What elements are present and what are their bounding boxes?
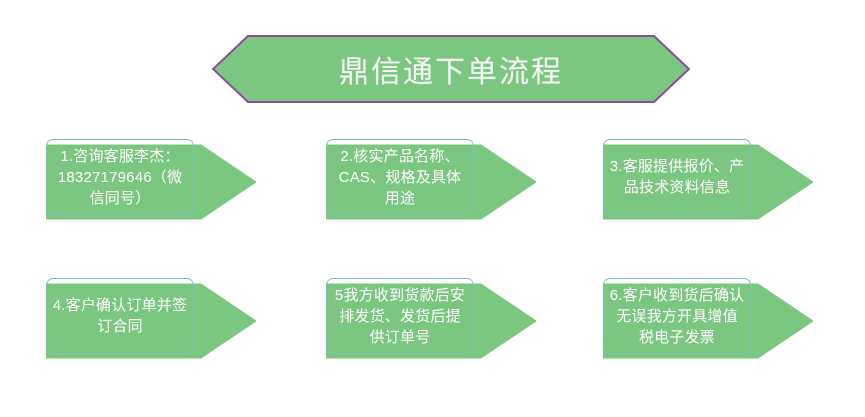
step-3-box: 3.客服提供报价、产品技术资料信息: [603, 139, 751, 215]
flow-step-4[interactable]: 4.客户确认订单并签订合同: [46, 278, 256, 364]
step-5-box: 5我方收到货款后安排发货、发货后提供订单号: [326, 278, 474, 354]
step-4-box: 4.客户确认订单并签订合同: [46, 278, 194, 354]
flow-step-3[interactable]: 3.客服提供报价、产品技术资料信息: [603, 139, 813, 225]
flow-step-1[interactable]: 1.咨询客服李杰：18327179646（微信同号）: [46, 139, 256, 225]
page-title: 鼎信通下单流程: [212, 35, 690, 103]
step-6-box: 6.客户收到货后确认无误我方开具增值税电子发票: [603, 278, 751, 354]
step-1-box: 1.咨询客服李杰：18327179646（微信同号）: [46, 139, 194, 215]
step-2-box: 2.核实产品名称、CAS、规格及具体用途: [326, 139, 474, 215]
step-6-label: 6.客户收到货后确认无误我方开具增值税电子发票: [609, 285, 745, 348]
step-1-label: 1.咨询客服李杰：18327179646（微信同号）: [52, 146, 188, 209]
flow-step-6[interactable]: 6.客户收到货后确认无误我方开具增值税电子发票: [603, 278, 813, 364]
flowchart-canvas: 鼎信通下单流程 1.咨询客服李杰：18327179646（微信同号） 2.核实产…: [0, 0, 865, 417]
step-3-label: 3.客服提供报价、产品技术资料信息: [609, 156, 745, 198]
step-5-label: 5我方收到货款后安排发货、发货后提供订单号: [332, 285, 468, 348]
title-banner: 鼎信通下单流程: [212, 35, 690, 103]
step-2-label: 2.核实产品名称、CAS、规格及具体用途: [332, 146, 468, 209]
step-4-label: 4.客户确认订单并签订合同: [52, 295, 188, 337]
flow-step-2[interactable]: 2.核实产品名称、CAS、规格及具体用途: [326, 139, 536, 225]
flow-step-5[interactable]: 5我方收到货款后安排发货、发货后提供订单号: [326, 278, 536, 364]
